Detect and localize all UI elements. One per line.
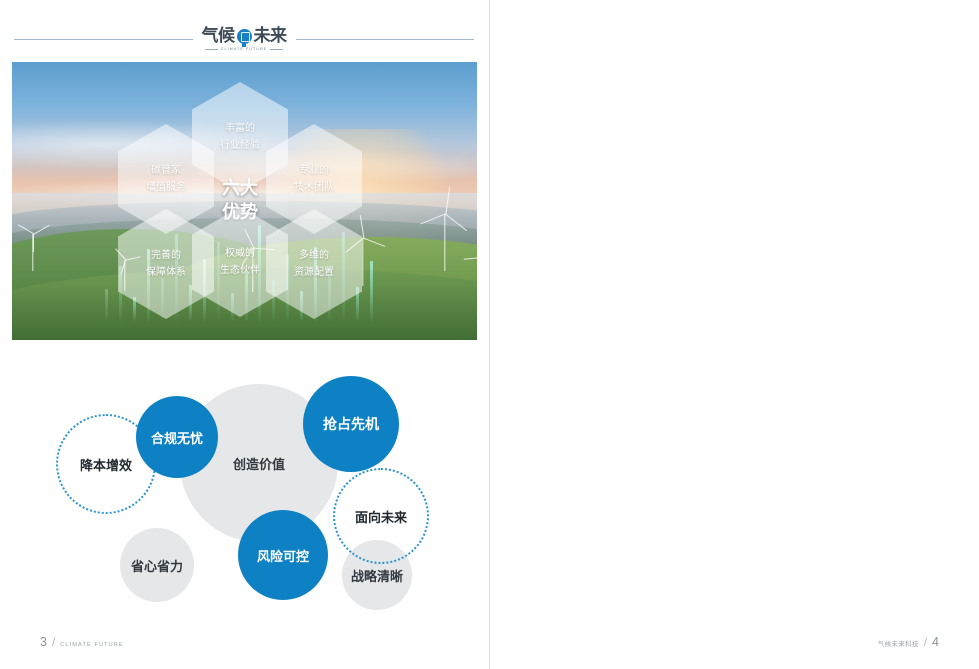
footer-label-cn: 气候未来科技 xyxy=(878,639,919,648)
value-bubble-3: 抢占先机 xyxy=(303,376,399,472)
logo-rule-left xyxy=(14,39,193,40)
footer-right: 气候未来科技 / 4 xyxy=(878,635,939,649)
page-number-2: 4 xyxy=(932,635,939,649)
logo-tagline-rule-left xyxy=(205,49,218,50)
hex-line2: 行业经验 xyxy=(220,137,260,155)
hex-line2: 生态伙伴 xyxy=(220,262,260,280)
hex-line2: 资源配置 xyxy=(294,264,334,282)
hex-line2: 增值服务 xyxy=(146,179,186,197)
hex-line1: 完善的 xyxy=(151,247,181,265)
wind-turbine-icon xyxy=(444,214,446,271)
lightbulb-icon xyxy=(237,29,252,44)
right-page: 气候 未来 CLIMATE FUTURE COMPANY FOUNDER 公司创… xyxy=(489,0,979,669)
header-logo-left: 气候 未来 CLIMATE FUTURE xyxy=(14,28,474,51)
value-bubble-7: 省心省力 xyxy=(120,528,194,602)
logo-wordmark: 气候 未来 xyxy=(202,28,287,45)
value-bubble-4: 风险可控 xyxy=(238,510,328,600)
footer-slash: / xyxy=(52,635,55,649)
footer-left: 3 / CLIMATE FUTURE xyxy=(40,635,124,649)
wind-turbine-icon xyxy=(32,234,34,271)
hex-line2: 保障体系 xyxy=(146,264,186,282)
value-bubble-2: 合规无忧 xyxy=(136,396,218,478)
six-advantages-hex-diagram: 六大优势丰富的行业经验专业的技术团队多维的资源配置权威的生态伙伴完善的保障体系碳… xyxy=(118,84,368,319)
value-bubbles-diagram: 创造价值合规无忧抢占先机风险可控降本增效面向未来省心省力战略清晰 xyxy=(28,368,458,616)
logo-tagline-rule-right xyxy=(270,49,283,50)
turbine-blade xyxy=(33,234,34,252)
logo-tagline-text: CLIMATE FUTURE xyxy=(221,47,267,51)
light-bar xyxy=(105,289,108,321)
footer-label: CLIMATE FUTURE xyxy=(60,642,123,648)
footer-slash-2: / xyxy=(924,635,927,649)
turbine-mast xyxy=(444,214,445,271)
logo-block: 气候 未来 CLIMATE FUTURE xyxy=(193,28,296,51)
logo-tagline: CLIMATE FUTURE xyxy=(205,47,283,51)
hex-line1: 权威的 xyxy=(225,245,255,263)
left-page: 气候 未来 CLIMATE FUTURE xyxy=(0,0,489,669)
logo-text-right: 未来 xyxy=(254,28,287,45)
hex-line2: 技术团队 xyxy=(294,179,334,197)
brochure-spread: 气候 未来 CLIMATE FUTURE xyxy=(0,0,979,669)
logo-rule-right xyxy=(296,39,475,40)
hex-line1: 碳管家 xyxy=(151,162,181,180)
value-bubble-6: 面向未来 xyxy=(333,468,429,564)
hex-line1: 丰富的 xyxy=(225,120,255,138)
hex-line1: 多维的 xyxy=(299,247,329,265)
page-number: 3 xyxy=(40,635,47,649)
logo-text-left: 气候 xyxy=(202,28,235,45)
hex-line1: 专业的 xyxy=(299,162,329,180)
light-bar xyxy=(370,261,373,320)
